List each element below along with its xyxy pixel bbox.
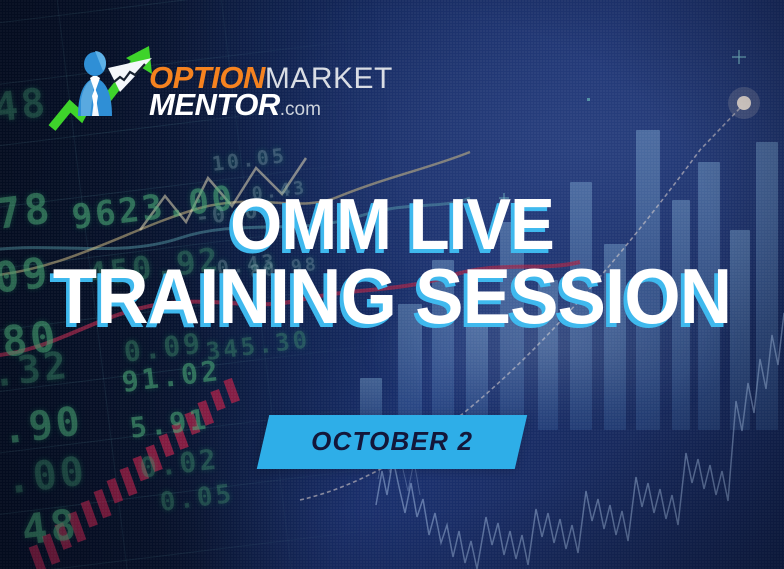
headline-line-1: OMM LIVE	[27, 192, 756, 258]
ticker-value: 48	[0, 80, 51, 132]
logo-word-com: .com	[280, 99, 321, 120]
ticker-value: 10.05	[211, 143, 289, 176]
ticker-value: .32	[0, 343, 72, 396]
brand-logo[interactable]: OPTIONMARKET MENTOR.com	[48, 44, 338, 136]
ticker-value: 0.05	[158, 479, 236, 518]
promo-banner: 48780980.32.90.00489623.00450.920.0991.0…	[0, 0, 784, 569]
headline-line-2: TRAINING SESSION	[27, 261, 756, 333]
ticker-value: 48	[19, 499, 81, 555]
logo-word-mentor: MENTOR	[149, 87, 280, 122]
date-badge-label: OCTOBER 2	[311, 426, 473, 457]
businessman-silhouette-icon	[78, 51, 112, 116]
date-badge[interactable]: OCTOBER 2	[257, 415, 527, 469]
headline-block: OMM LIVE TRAINING SESSION	[0, 192, 784, 333]
logo-wordmark: OPTIONMARKET MENTOR.com	[149, 63, 393, 120]
date-badge-wrap: OCTOBER 2	[0, 415, 784, 469]
